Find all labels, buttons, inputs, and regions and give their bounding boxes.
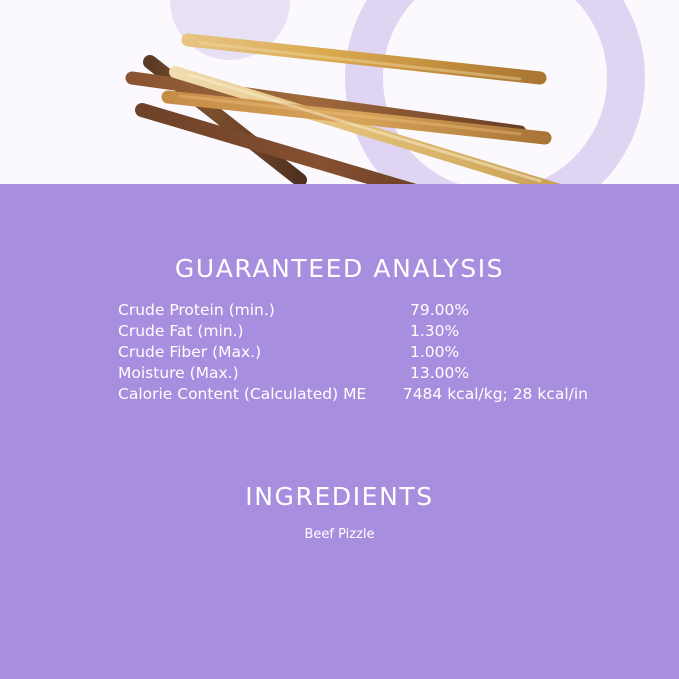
table-row: Calorie Content (Calculated) ME 7484 kca…: [118, 384, 588, 404]
nutrient-label: Calorie Content (Calculated) ME: [118, 384, 403, 404]
bully-sticks-illustration: [0, 0, 679, 184]
guaranteed-analysis-title: GUARANTEED ANALYSIS: [0, 254, 679, 283]
nutrient-label: Crude Protein (min.): [118, 300, 410, 320]
table-row: Crude Fiber (Max.) 1.00%: [118, 342, 588, 362]
nutrient-value: 7484 kcal/kg; 28 kcal/in: [403, 384, 588, 404]
nutrient-label: Crude Fiber (Max.): [118, 342, 410, 362]
nutrient-value: 13.00%: [410, 363, 469, 383]
nutrient-value: 79.00%: [410, 300, 469, 320]
product-info-page: GUARANTEED ANALYSIS Crude Protein (min.)…: [0, 0, 679, 679]
nutrient-value: 1.00%: [410, 342, 459, 362]
table-row: Moisture (Max.) 13.00%: [118, 363, 588, 383]
guaranteed-analysis-table: Crude Protein (min.) 79.00% Crude Fat (m…: [118, 300, 588, 405]
ingredients-title: INGREDIENTS: [0, 482, 679, 511]
nutrient-value: 1.30%: [410, 321, 459, 341]
nutrient-label: Moisture (Max.): [118, 363, 410, 383]
product-photo: [0, 0, 679, 184]
info-panel: GUARANTEED ANALYSIS Crude Protein (min.)…: [0, 184, 679, 679]
table-row: Crude Fat (min.) 1.30%: [118, 321, 588, 341]
nutrient-label: Crude Fat (min.): [118, 321, 410, 341]
table-row: Crude Protein (min.) 79.00%: [118, 300, 588, 320]
ingredients-body: Beef Pizzle: [0, 527, 679, 542]
